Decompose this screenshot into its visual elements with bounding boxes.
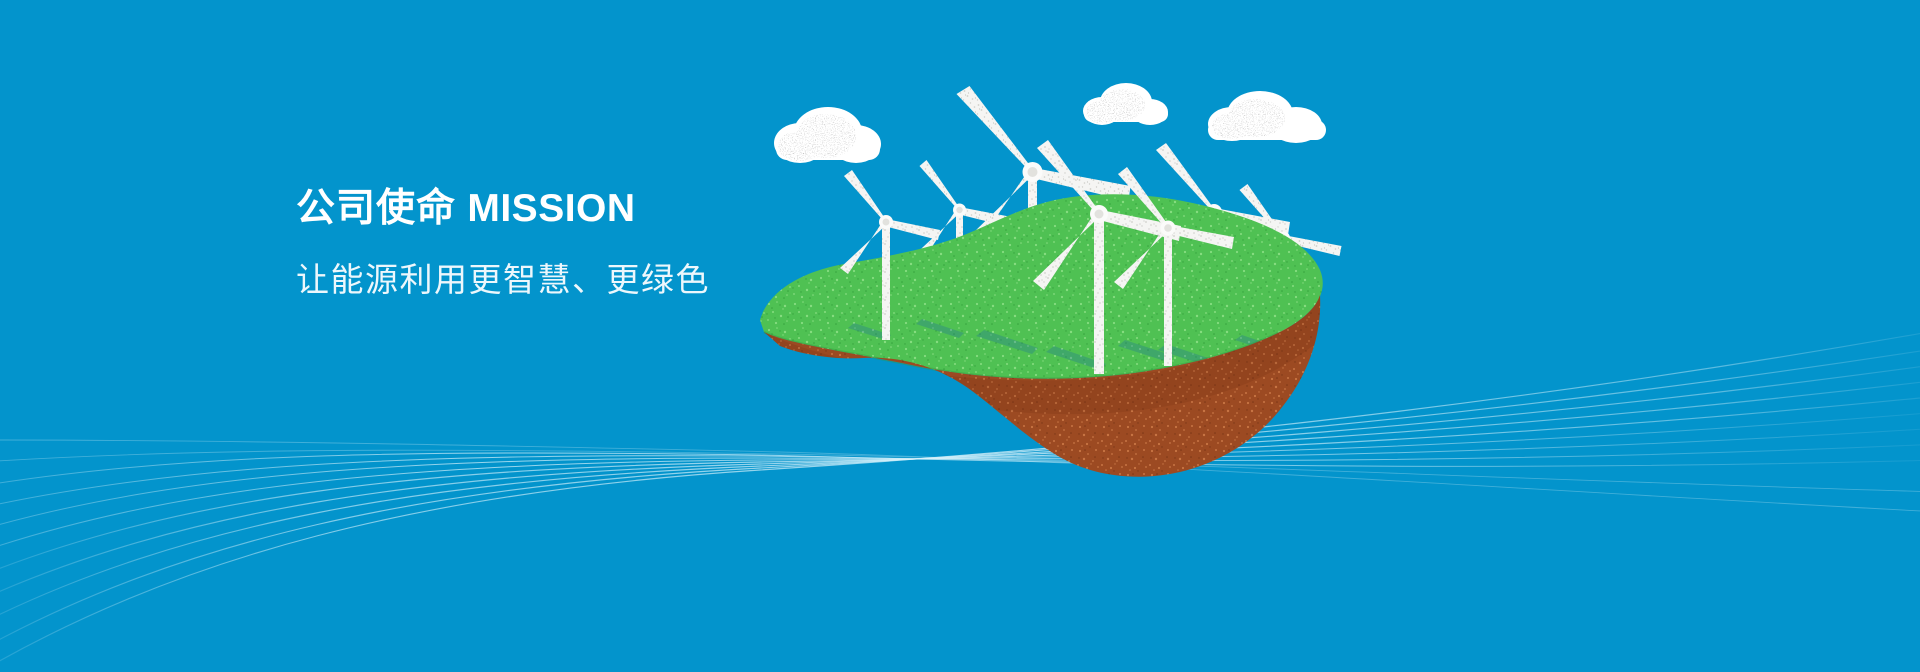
mission-banner: 公司使命 MISSION 让能源利用更智慧、更绿色 (0, 0, 1920, 672)
cloud-middle (1083, 83, 1168, 125)
page-title-cjk: 公司使命 (296, 187, 456, 230)
cloud-left (774, 107, 881, 163)
island-svg (740, 40, 1380, 510)
cloud-right (1208, 91, 1326, 143)
page-title-latin: MISSION (467, 187, 635, 230)
floating-island-illustration (740, 40, 1380, 510)
